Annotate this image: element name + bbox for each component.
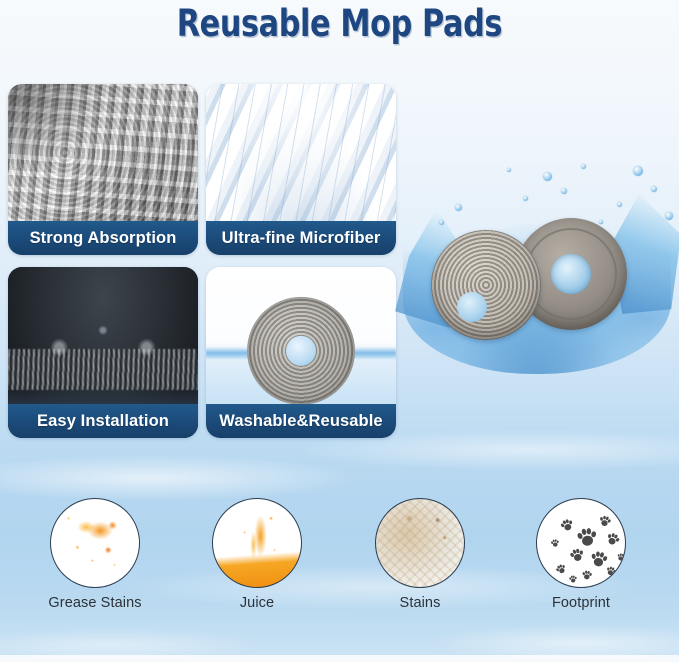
- stain-type-label: Stains: [340, 595, 500, 611]
- juice-splash-icon: [212, 498, 302, 588]
- paw-print-mark: [596, 512, 613, 529]
- stain-type-label: Juice: [177, 595, 337, 611]
- dirt-stain-icon: [375, 498, 465, 588]
- stain-type-stains[interactable]: Stains: [340, 498, 500, 611]
- water-droplet: [455, 204, 462, 211]
- paw-print-mark: [568, 574, 579, 585]
- stain-type-grease-stains[interactable]: Grease Stains: [15, 498, 175, 611]
- feature-tile-label: Washable&Reusable: [206, 404, 396, 438]
- water-droplet: [599, 220, 603, 224]
- feature-tile-ultra-fine-microfiber[interactable]: Ultra-fine Microfiber: [206, 84, 396, 255]
- mop-pad-hole: [551, 254, 591, 294]
- water-droplet: [617, 202, 622, 207]
- mop-pad-shape: [247, 296, 355, 404]
- feature-tile-easy-installation[interactable]: Easy Installation: [8, 267, 198, 438]
- mop-pad-hole: [457, 292, 487, 322]
- water-droplet: [665, 212, 673, 220]
- stain-type-footprint[interactable]: Footprint: [501, 498, 661, 611]
- water-droplet: [523, 196, 528, 201]
- feature-tile-label: Strong Absorption: [8, 221, 198, 255]
- paw-print-mark: [549, 537, 561, 549]
- background-haze-band: [0, 455, 360, 501]
- feature-tile-grid: Strong Absorption Ultra-fine Microfiber …: [8, 84, 398, 438]
- page-title: Reusable Mop Pads: [177, 4, 502, 44]
- water-droplet: [633, 166, 643, 176]
- hero-water-splash: [395, 150, 679, 400]
- water-droplet: [543, 172, 552, 181]
- mop-pad-front: [431, 230, 541, 340]
- feature-tile-strong-absorption[interactable]: Strong Absorption: [8, 84, 198, 255]
- page-title-container: Reusable Mop Pads: [0, 4, 679, 44]
- paw-print-mark: [602, 528, 623, 549]
- mop-pad-hole: [286, 335, 316, 365]
- water-droplet: [581, 164, 586, 169]
- feature-tile-label: Easy Installation: [8, 404, 198, 438]
- stain-type-label: Footprint: [501, 595, 661, 611]
- paw-print-mark: [615, 551, 626, 564]
- feature-tile-washable-reusable[interactable]: Washable&Reusable: [206, 267, 396, 438]
- feature-tile-label: Ultra-fine Microfiber: [206, 221, 396, 255]
- stain-type-label: Grease Stains: [15, 595, 175, 611]
- water-droplet: [439, 220, 444, 225]
- paw-print-mark: [603, 563, 618, 578]
- grease-stain-icon: [50, 498, 140, 588]
- stain-type-list: Grease Stains Juice Stains Footprint: [0, 498, 679, 638]
- paw-print-icon: [536, 498, 626, 588]
- water-droplet: [651, 186, 657, 192]
- water-droplet: [507, 168, 511, 172]
- paw-print-mark: [580, 568, 594, 582]
- stain-type-juice[interactable]: Juice: [177, 498, 337, 611]
- water-droplet: [561, 188, 567, 194]
